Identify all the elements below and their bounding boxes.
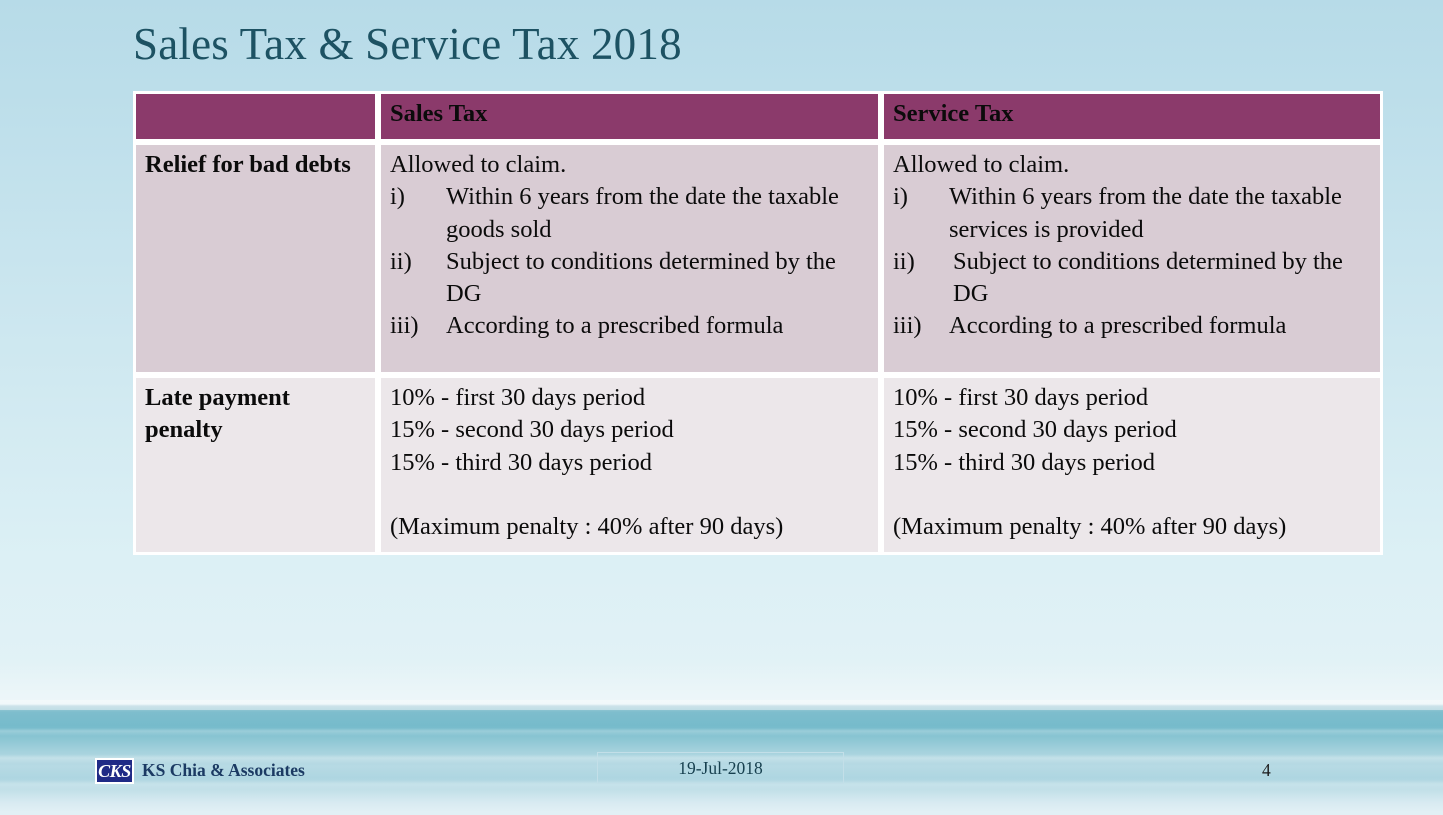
- list-marker: i): [893, 181, 908, 213]
- penalty-line: 15% - third 30 days period: [390, 447, 869, 479]
- footer-date-box: 19-Jul-2018: [597, 752, 844, 784]
- penalty-max-note: (Maximum penalty : 40% after 90 days): [893, 511, 1371, 543]
- penalty-line: 10% - first 30 days period: [390, 382, 869, 414]
- list-marker: i): [390, 181, 405, 213]
- list-marker: iii): [893, 310, 922, 342]
- list-item-text: According to a prescribed formula: [949, 312, 1286, 339]
- list-item: i) Within 6 years from the date the taxa…: [390, 181, 869, 245]
- list-item-text: According to a prescribed formula: [446, 312, 783, 339]
- row-label-relief-for-bad-debts: Relief for bad debts: [133, 142, 378, 375]
- spacer: [390, 479, 869, 511]
- table-body: Relief for bad debts Allowed to claim. i…: [133, 142, 1383, 555]
- penalty-line: 15% - second 30 days period: [893, 414, 1371, 446]
- penalty-line: 15% - third 30 days period: [893, 447, 1371, 479]
- list-marker: ii): [893, 246, 915, 278]
- list-item: i) Within 6 years from the date the taxa…: [893, 181, 1371, 245]
- cell-bad-debts-service-tax: Allowed to claim. i) Within 6 years from…: [881, 142, 1383, 375]
- list-item-text: Within 6 years from the date the taxable…: [949, 183, 1342, 242]
- list-item: iii) According to a prescribed formula: [390, 310, 869, 342]
- cell-bad-debts-sales-tax: Allowed to claim. i) Within 6 years from…: [378, 142, 881, 375]
- roman-list: i) Within 6 years from the date the taxa…: [390, 181, 869, 342]
- cell-lead-text: Allowed to claim.: [893, 149, 1371, 181]
- row-label-late-payment-penalty: Late payment penalty: [133, 375, 378, 555]
- cell-penalty-service-tax: 10% - first 30 days period 15% - second …: [881, 375, 1383, 555]
- table-row: Late payment penalty 10% - first 30 days…: [133, 375, 1383, 555]
- cell-penalty-sales-tax: 10% - first 30 days period 15% - second …: [378, 375, 881, 555]
- list-marker: ii): [390, 246, 412, 278]
- table-header-row: Sales Tax Service Tax: [133, 91, 1383, 142]
- list-item-text: Subject to conditions determined by the …: [446, 248, 836, 307]
- footer-date: 19-Jul-2018: [678, 758, 763, 779]
- comparison-table: Sales Tax Service Tax Relief for bad deb…: [133, 91, 1383, 555]
- footer-company-name: KS Chia & Associates: [142, 760, 305, 781]
- table-header-service-tax: Service Tax: [881, 91, 1383, 142]
- penalty-line: 15% - second 30 days period: [390, 414, 869, 446]
- list-item: iii) According to a prescribed formula: [893, 310, 1371, 342]
- page-title: Sales Tax & Service Tax 2018: [133, 14, 1383, 74]
- table-header-blank: [133, 91, 378, 142]
- cell-lead-text: Allowed to claim.: [390, 149, 869, 181]
- spacer: [893, 479, 1371, 511]
- table-row: Relief for bad debts Allowed to claim. i…: [133, 142, 1383, 375]
- list-item-text: Within 6 years from the date the taxable…: [446, 183, 839, 242]
- list-item-text: Subject to conditions determined by the …: [953, 248, 1343, 307]
- list-item: ii) Subject to conditions determined by …: [893, 246, 1371, 310]
- page-number: 4: [1262, 760, 1271, 781]
- penalty-line: 10% - first 30 days period: [893, 382, 1371, 414]
- list-marker: iii): [390, 310, 419, 342]
- roman-list: i) Within 6 years from the date the taxa…: [893, 181, 1371, 342]
- cks-logo-icon: CKS: [95, 758, 134, 784]
- table-header-sales-tax: Sales Tax: [378, 91, 881, 142]
- table-header: Sales Tax Service Tax: [133, 91, 1383, 142]
- penalty-max-note: (Maximum penalty : 40% after 90 days): [390, 511, 869, 543]
- list-item: ii) Subject to conditions determined by …: [390, 246, 869, 310]
